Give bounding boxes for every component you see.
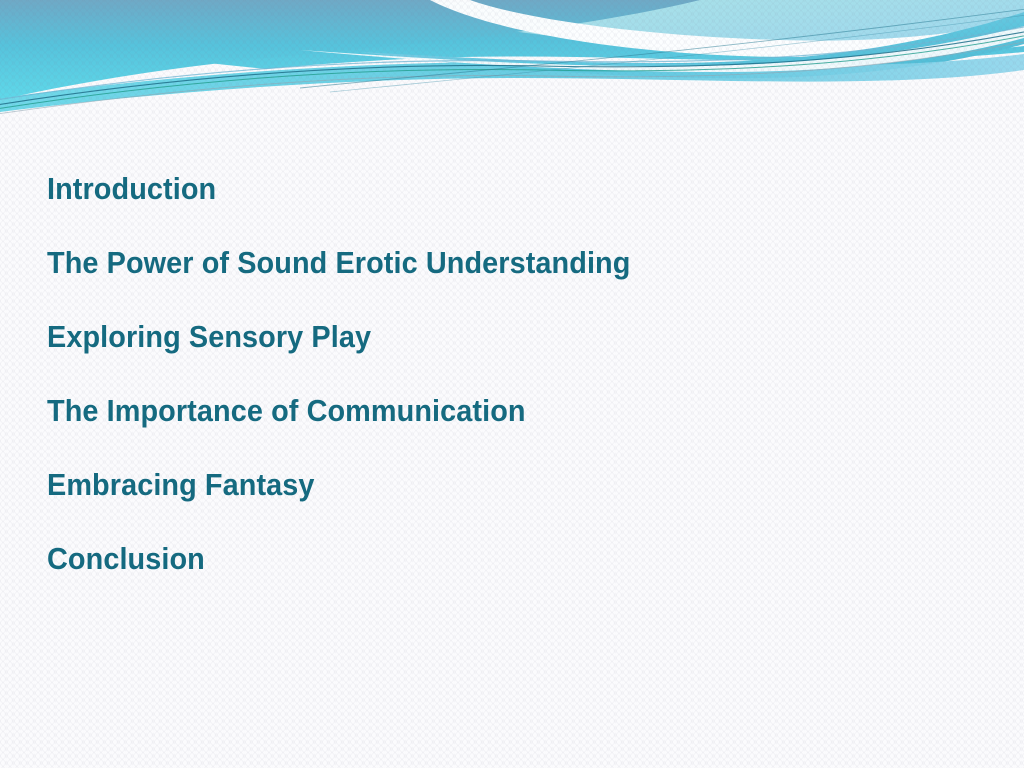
agenda-item-sensory-play: Exploring Sensory Play [47,300,884,374]
presentation-slide: Introduction The Power of Sound Erotic U… [0,0,1024,768]
agenda-list: Introduction The Power of Sound Erotic U… [47,152,947,596]
wave-banner-decoration [0,0,1024,130]
agenda-item-introduction: Introduction [47,152,884,226]
agenda-item-communication: The Importance of Communication [47,374,884,448]
agenda-item-power-of-sound: The Power of Sound Erotic Understanding [47,226,884,300]
agenda-item-conclusion: Conclusion [47,522,884,596]
agenda-item-embracing-fantasy: Embracing Fantasy [47,448,884,522]
